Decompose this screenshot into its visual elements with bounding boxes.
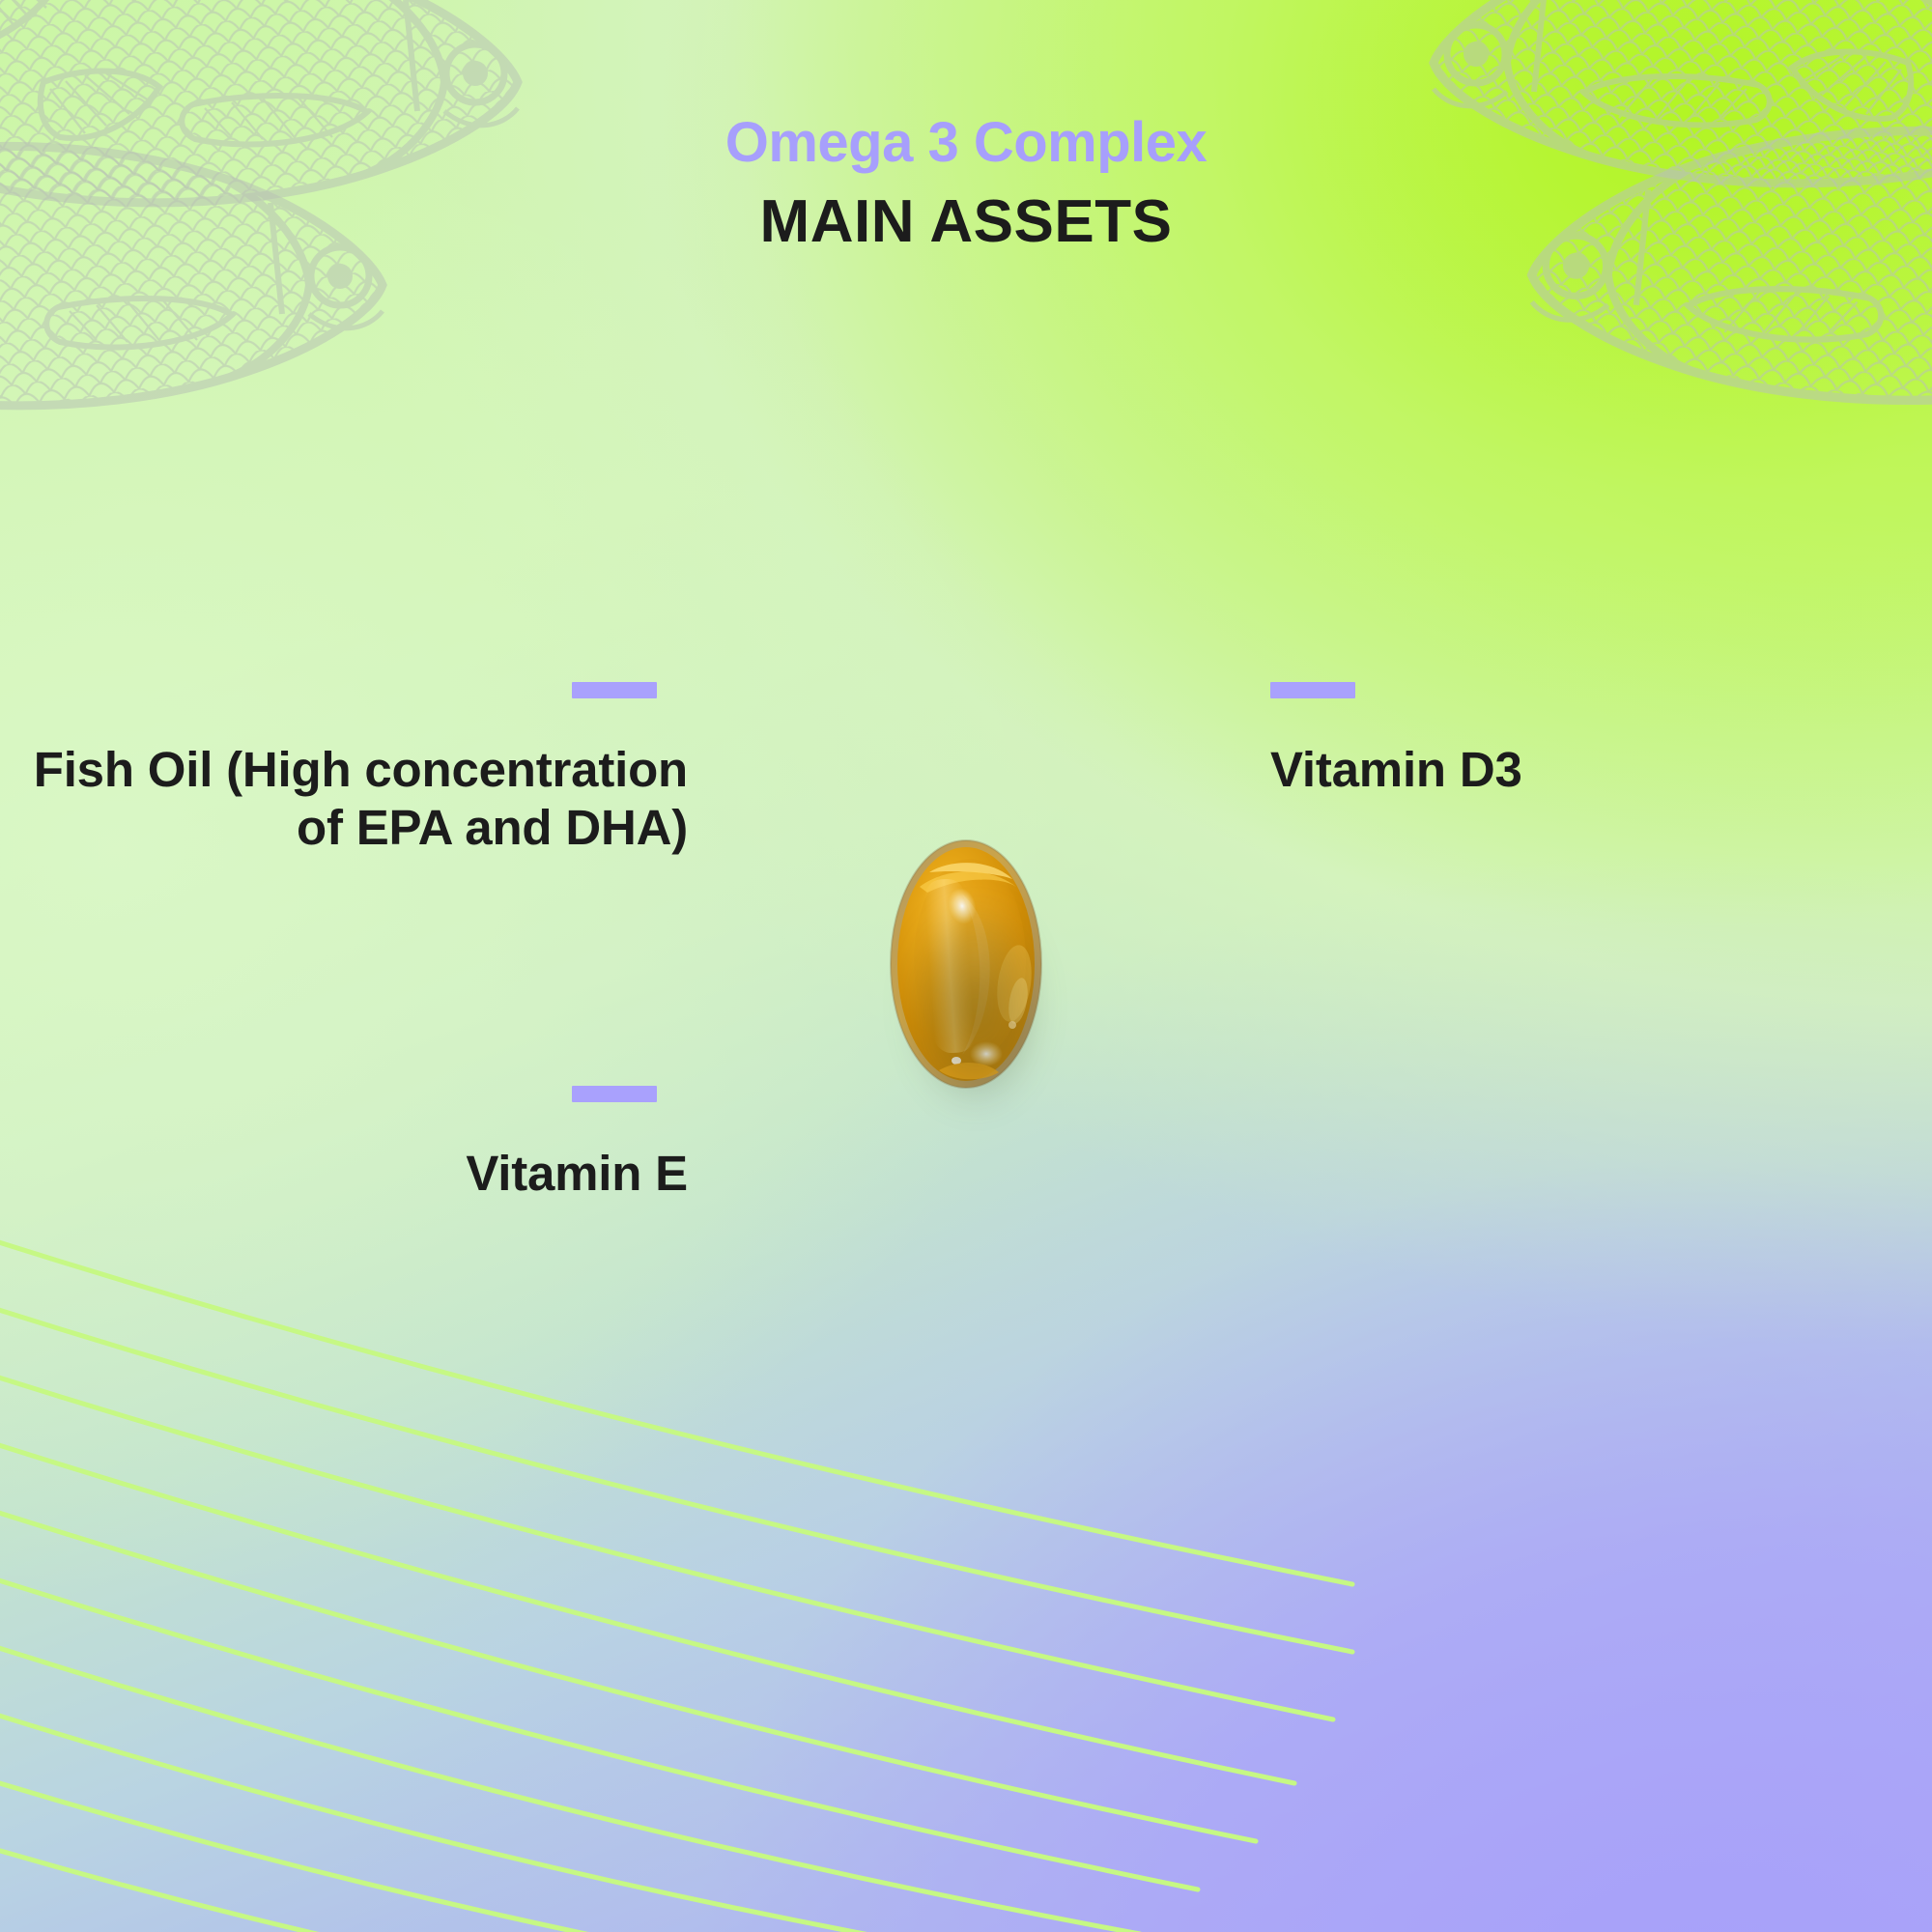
feature-vitamin-d3: Vitamin D3 xyxy=(1270,682,1889,799)
poster-canvas: Omega 3 Complex MAIN ASSETS Fish Oil (Hi… xyxy=(0,0,1932,1932)
dash-marker-icon xyxy=(1270,682,1355,698)
capsule-shadow xyxy=(885,854,1059,1124)
poster-header: Omega 3 Complex MAIN ASSETS xyxy=(0,114,1932,258)
dash-marker-icon xyxy=(572,682,657,698)
feature-vitamin-e: Vitamin E xyxy=(0,1086,696,1203)
page-title: MAIN ASSETS xyxy=(0,186,1932,258)
product-name: Omega 3 Complex xyxy=(0,114,1932,173)
feature-label: Vitamin E xyxy=(0,1145,696,1203)
feature-label: Vitamin D3 xyxy=(1270,741,1889,799)
feature-label: Fish Oil (High concentration of EPA and … xyxy=(0,741,696,857)
dash-marker-icon xyxy=(572,1086,657,1102)
capsule-image xyxy=(869,819,1063,1109)
feature-fish-oil: Fish Oil (High concentration of EPA and … xyxy=(0,682,696,857)
